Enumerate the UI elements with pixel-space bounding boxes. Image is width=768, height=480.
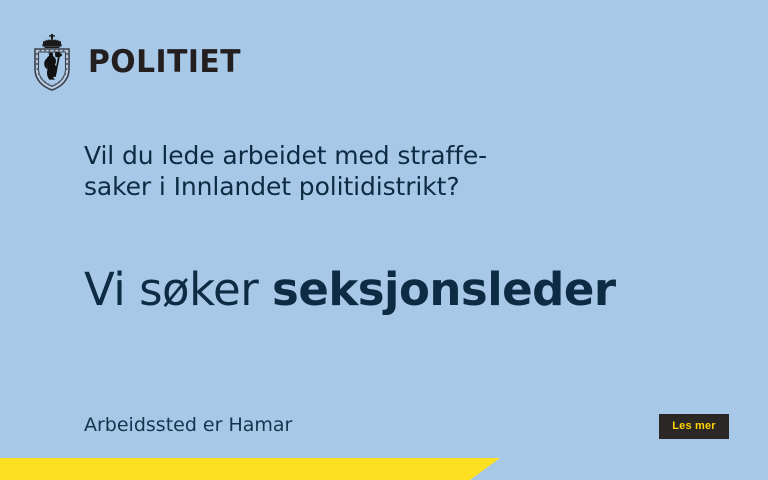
kicker-line-2: saker i Innlandet politidistrikt?	[84, 171, 644, 202]
recruitment-banner: POLITIET Vil du lede arbeidet med straff…	[0, 0, 768, 480]
read-more-button[interactable]: Les mer	[659, 414, 729, 439]
kicker-line-1: Vil du lede arbeidet med straffe-	[84, 140, 644, 171]
page-title: Vi søker seksjonsleder	[84, 264, 616, 316]
accent-stripe	[0, 458, 500, 480]
headline-lead: Vi søker	[84, 263, 272, 316]
headline-emphasis: seksjonsleder	[272, 263, 616, 316]
politiet-logo: POLITIET	[26, 33, 247, 91]
norwegian-coat-of-arms-icon	[26, 33, 78, 91]
kicker-question: Vil du lede arbeidet med straffe- saker …	[84, 140, 644, 202]
work-location-text: Arbeidssted er Hamar	[84, 413, 292, 437]
politiet-wordmark: POLITIET	[88, 47, 241, 78]
read-more-label: Les mer	[672, 421, 716, 432]
